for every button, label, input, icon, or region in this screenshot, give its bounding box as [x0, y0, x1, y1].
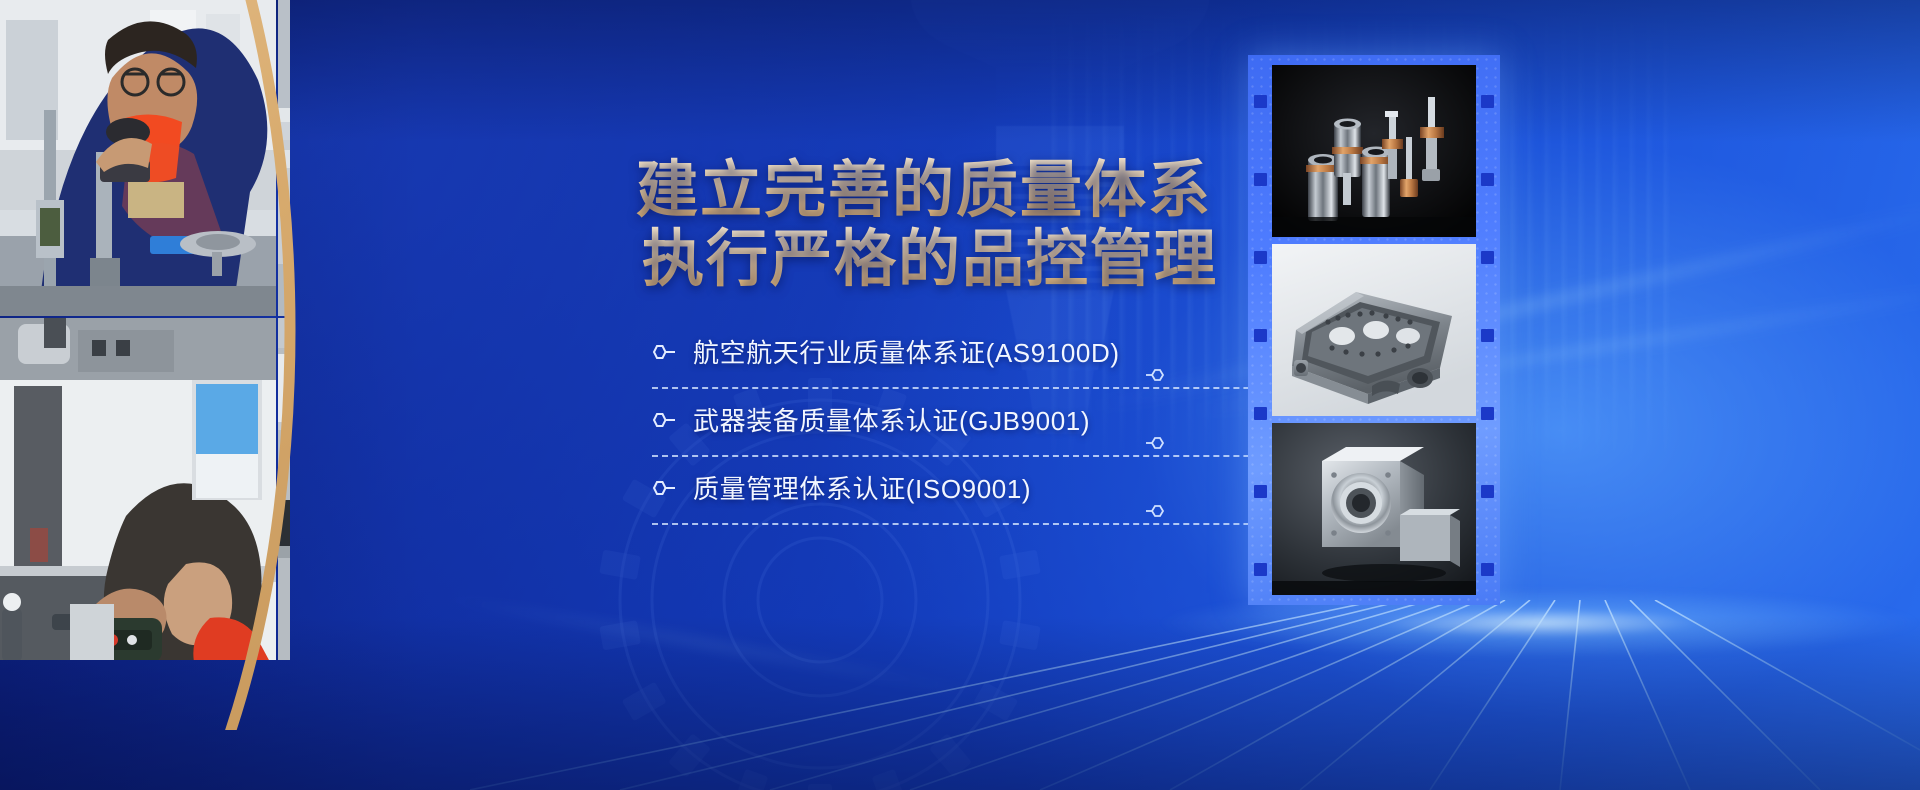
filmstrip-photo-machined-housing [1272, 244, 1476, 416]
certification-list: 航空航天行业质量体系证(AS9100D) 武器装备质量体系认证(GJB9001) [650, 328, 1190, 532]
hexagon-end-marker-icon [1146, 368, 1170, 382]
collage-photo-female-inspector [278, 0, 564, 316]
quality-system-banner: ☀ ③ ① [0, 0, 1920, 790]
certification-label: 航空航天行业质量体系证(AS9100D) [693, 333, 1120, 370]
filmstrip-perforation [1481, 485, 1494, 498]
hexagon-end-marker-icon [1146, 436, 1170, 450]
filmstrip-perforation [1481, 407, 1494, 420]
filmstrip-photo-bearing-block [1272, 423, 1476, 595]
headline-line-1: 建立完善的质量体系 [636, 156, 1236, 225]
filmstrip-perforation [1481, 329, 1494, 342]
hexagon-marker-icon [650, 480, 676, 496]
headline-line-2: 执行严格的品控管理 [636, 225, 1236, 294]
filmstrip-perforation [1254, 485, 1267, 498]
svg-text:①: ① [398, 448, 410, 463]
svg-text:☀: ☀ [306, 446, 322, 466]
filmstrip-perforation [1481, 95, 1494, 108]
svg-text:③: ③ [344, 448, 356, 463]
certification-item: 航空航天行业质量体系证(AS9100D) [650, 328, 1190, 396]
certification-item: 质量管理体系认证(ISO9001) [650, 464, 1190, 532]
filmstrip-perforation [1254, 251, 1267, 264]
collage-photo-cnc-operator: ☀ ③ ① [278, 318, 564, 662]
collage-photo-cmm-operator [0, 318, 276, 662]
headline-block: 建立完善的质量体系 执行严格的品控管理 [636, 156, 1236, 295]
hexagon-marker-icon [650, 344, 676, 360]
filmstrip-perforation [1481, 563, 1494, 576]
collage-photo-worker-height-gauge [0, 0, 276, 316]
photo-collage: ☀ ③ ① [0, 0, 562, 660]
certification-label: 质量管理体系认证(ISO9001) [693, 469, 1031, 506]
hexagon-end-marker-icon [1146, 504, 1170, 518]
filmstrip-perforation [1254, 173, 1267, 186]
filmstrip-perforation [1254, 563, 1267, 576]
certification-item: 武器装备质量体系认证(GJB9001) [650, 396, 1190, 464]
certification-label: 武器装备质量体系认证(GJB9001) [693, 401, 1090, 438]
filmstrip-photo-turned-parts [1272, 65, 1476, 237]
filmstrip-perforation [1254, 407, 1267, 420]
filmstrip-perforation [1254, 95, 1267, 108]
filmstrip-perforation [1254, 329, 1267, 342]
filmstrip-perforation [1481, 173, 1494, 186]
product-filmstrip [1248, 55, 1500, 605]
hexagon-marker-icon [650, 412, 676, 428]
filmstrip-perforation [1481, 251, 1494, 264]
